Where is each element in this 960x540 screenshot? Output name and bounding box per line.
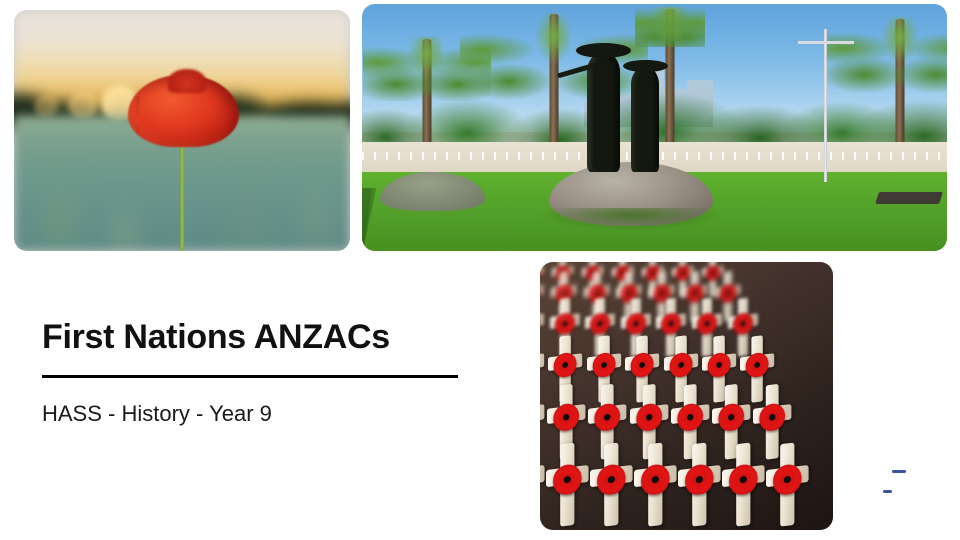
palm-fronds <box>635 7 705 47</box>
poppy-photo <box>14 10 350 251</box>
memorial-photo-scene <box>362 4 947 251</box>
cross-grid <box>540 262 833 530</box>
poppy-badge <box>631 352 654 379</box>
bokeh-light <box>68 90 98 120</box>
poppy-photo-scene <box>14 10 350 251</box>
poppy-badge <box>641 463 670 496</box>
palm-tree <box>397 39 457 153</box>
remembrance-crosses-photo <box>540 262 833 530</box>
soldier-statue <box>587 53 620 172</box>
remembrance-cross <box>590 441 633 529</box>
poppy-badge <box>685 463 714 496</box>
cross-horizontal-bar <box>540 354 544 371</box>
logo-letters-rg: RG <box>896 482 924 500</box>
logo-dot: . <box>873 482 879 500</box>
remembrance-cross <box>722 441 765 529</box>
title-divider <box>42 375 458 378</box>
poppy-badge <box>636 402 662 432</box>
logo-letter-c: C <box>874 462 887 480</box>
cross-horizontal-bar <box>540 404 544 424</box>
logo-line-org: . RG <box>867 482 931 500</box>
cool-org-logo: C L . RG <box>867 462 931 500</box>
title-block: First Nations ANZACs HASS - History - Ye… <box>42 318 472 429</box>
brand-panel: C L . RG <box>847 263 950 534</box>
slide-canvas: C L . RG First Nations ANZACs HASS - His… <box>0 0 960 540</box>
page-title: First Nations ANZACs <box>42 318 472 357</box>
soldier-statue <box>631 68 659 172</box>
poppy-badge <box>707 352 730 379</box>
poppy-badge <box>661 312 681 335</box>
park-bench <box>875 192 943 204</box>
poppy-badge <box>597 463 626 496</box>
poppy-badge <box>746 352 769 379</box>
poppy-badge <box>595 402 621 432</box>
poppy-stem <box>180 135 184 251</box>
flagpole <box>824 29 827 182</box>
poppy-badge <box>759 402 785 432</box>
cross-horizontal-bar <box>540 465 545 487</box>
palm-tree <box>865 19 935 147</box>
poppy-badge <box>718 402 744 432</box>
logo-double-o-icon <box>888 463 910 480</box>
remembrance-cross <box>546 441 589 529</box>
poppy-badge <box>554 312 574 335</box>
poppy-badge <box>592 352 615 379</box>
poppy-badge <box>697 312 717 335</box>
poppy-badge <box>590 312 610 335</box>
logo-o-icon <box>880 483 895 500</box>
cross-horizontal-bar <box>540 314 544 329</box>
palm-fronds <box>825 17 947 95</box>
memorial-statue-photo <box>362 4 947 251</box>
palm-tree <box>514 14 594 152</box>
poppy-badge <box>553 402 579 432</box>
poppy-badge <box>626 312 646 335</box>
logo-line-cool: C L <box>867 462 931 480</box>
poppy-badge <box>677 402 703 432</box>
poppy-badge <box>669 352 692 379</box>
poppy-badge <box>554 352 577 379</box>
poppy-bloom <box>128 75 239 147</box>
remembrance-cross <box>766 441 809 529</box>
poppy-badge <box>553 463 582 496</box>
remembrance-cross <box>678 441 721 529</box>
poppy-badge <box>773 463 802 496</box>
crosses-photo-scene <box>540 262 833 530</box>
remembrance-cross <box>540 441 545 529</box>
page-subtitle: HASS - History - Year 9 <box>42 400 472 429</box>
poppy-badge <box>732 312 752 335</box>
logo-letter-l: L <box>911 462 922 480</box>
remembrance-cross <box>634 441 677 529</box>
poppy-badge <box>729 463 758 496</box>
